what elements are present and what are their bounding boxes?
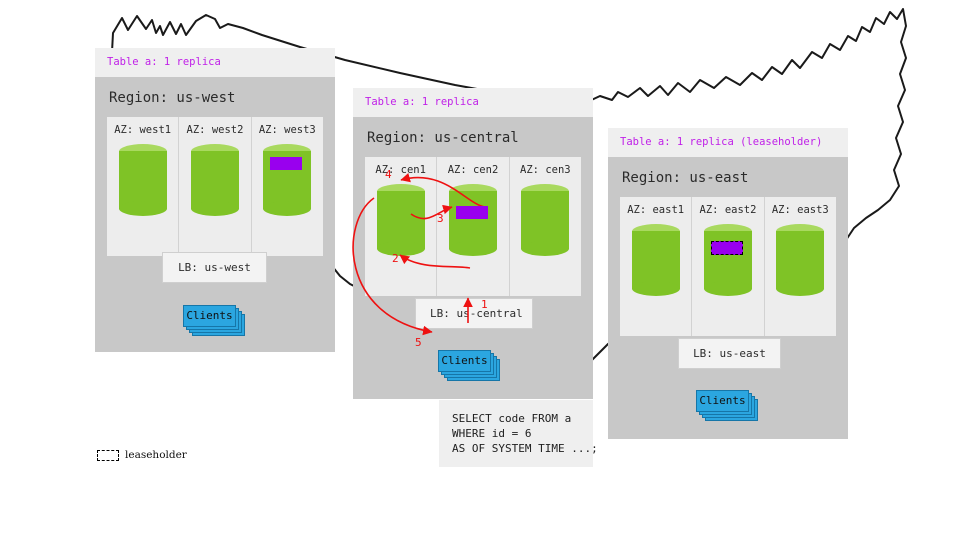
az-west3[interactable]: AZ: west3: [252, 117, 323, 256]
replica-cylinder-cen3[interactable]: [521, 184, 569, 256]
replica-cylinder-east1[interactable]: [632, 224, 680, 296]
flow-step-5-label: 5: [415, 336, 422, 349]
az-cen2[interactable]: AZ: cen2: [437, 157, 509, 296]
range-marker-cen2[interactable]: [456, 206, 488, 219]
dashed-rect-icon: [97, 450, 119, 461]
clients-label: Clients: [696, 390, 749, 412]
az-label: AZ: cen1: [375, 164, 426, 176]
clients-label: Clients: [438, 350, 491, 372]
replica-cylinder-east2[interactable]: [704, 224, 752, 296]
az-label: AZ: west3: [259, 124, 316, 136]
region-banner-us-west: Table a: 1 replica: [95, 48, 335, 77]
replica-cylinder-west3[interactable]: [263, 144, 311, 216]
flow-step-4-label: 4: [385, 168, 392, 181]
load-balancer-us-west[interactable]: LB: us-west: [162, 252, 267, 283]
az-west2[interactable]: AZ: west2: [179, 117, 251, 256]
flow-step-2-label: 2: [392, 252, 399, 265]
replica-cylinder-west2[interactable]: [191, 144, 239, 216]
replica-cylinder-cen1[interactable]: [377, 184, 425, 256]
range-marker-west3[interactable]: [270, 157, 302, 170]
clients-label: Clients: [183, 305, 236, 327]
range-marker-east2-leaseholder[interactable]: [711, 241, 743, 255]
az-cen1[interactable]: AZ: cen1: [365, 157, 437, 296]
flow-step-1-label: 1: [481, 298, 488, 311]
legend-label: leaseholder: [125, 449, 187, 461]
region-title-us-central: Region: us-central: [353, 117, 593, 157]
region-card-us-central: Table a: 1 replica Region: us-central AZ…: [353, 88, 593, 399]
az-label: AZ: east2: [700, 204, 757, 216]
replica-cylinder-west1[interactable]: [119, 144, 167, 216]
replica-cylinder-cen2[interactable]: [449, 184, 497, 256]
az-row-us-central: AZ: cen1 AZ: cen2: [365, 157, 581, 296]
az-label: AZ: west2: [187, 124, 244, 136]
load-balancer-us-east[interactable]: LB: us-east: [678, 338, 781, 369]
az-row-us-east: AZ: east1 AZ: east2: [620, 197, 836, 336]
legend-leaseholder: leaseholder: [97, 449, 187, 461]
replica-cylinder-east3[interactable]: [776, 224, 824, 296]
az-label: AZ: cen2: [448, 164, 499, 176]
az-east1[interactable]: AZ: east1: [620, 197, 692, 336]
region-banner-us-east: Table a: 1 replica (leaseholder): [608, 128, 848, 157]
az-east2[interactable]: AZ: east2: [692, 197, 764, 336]
region-card-us-east: Table a: 1 replica (leaseholder) Region:…: [608, 128, 848, 439]
az-label: AZ: cen3: [520, 164, 571, 176]
region-card-us-west: Table a: 1 replica Region: us-west AZ: w…: [95, 48, 335, 352]
az-label: AZ: west1: [114, 124, 171, 136]
az-east3[interactable]: AZ: east3: [765, 197, 836, 336]
region-title-us-west: Region: us-west: [95, 77, 335, 117]
clients-us-east[interactable]: Clients: [696, 390, 758, 422]
region-banner-us-central: Table a: 1 replica: [353, 88, 593, 117]
az-cen3[interactable]: AZ: cen3: [510, 157, 581, 296]
sql-query-box: SELECT code FROM a WHERE id = 6 AS OF SY…: [439, 400, 593, 467]
region-title-us-east: Region: us-east: [608, 157, 848, 197]
az-row-us-west: AZ: west1 AZ: west2 AZ: [107, 117, 323, 256]
flow-step-3-label: 3: [437, 212, 444, 225]
clients-us-central[interactable]: Clients: [438, 350, 500, 382]
az-label: AZ: east3: [772, 204, 829, 216]
az-west1[interactable]: AZ: west1: [107, 117, 179, 256]
clients-us-west[interactable]: Clients: [183, 305, 245, 337]
load-balancer-us-central[interactable]: LB: us-central: [415, 298, 533, 329]
az-label: AZ: east1: [627, 204, 684, 216]
diagram-canvas: Table a: 1 replica Region: us-west AZ: w…: [0, 0, 960, 540]
